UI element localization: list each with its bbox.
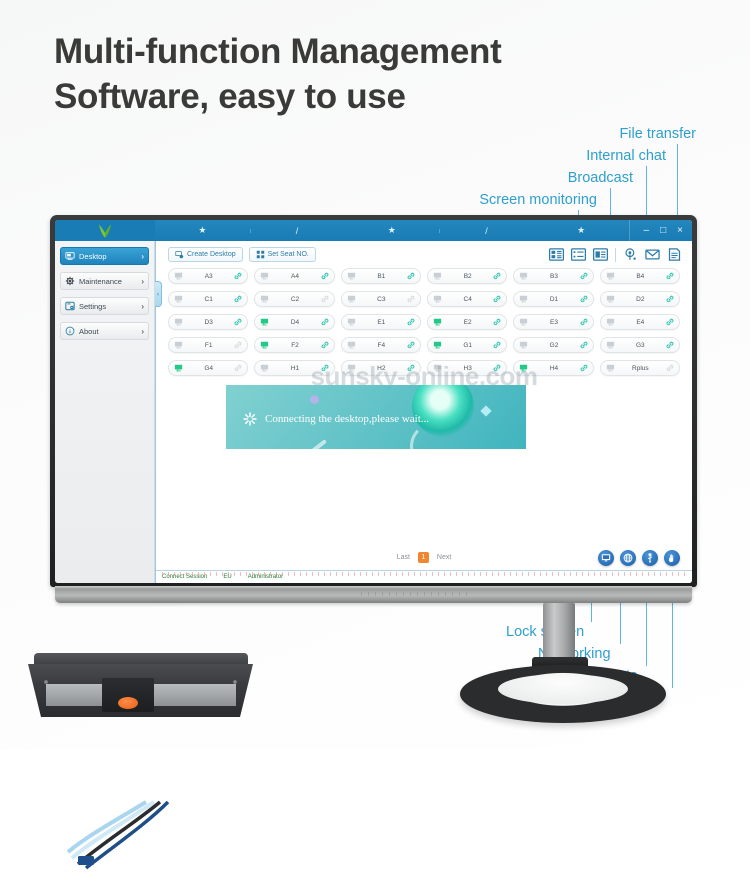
seat-name: G3	[619, 342, 662, 349]
link-connected-icon[interactable]	[580, 341, 588, 349]
seat-item[interactable]: G1	[427, 337, 507, 353]
seat-name: D2	[619, 296, 662, 303]
seat-item[interactable]: G4	[168, 360, 248, 376]
link-connected-icon[interactable]	[407, 364, 415, 372]
seat-monitor-icon	[174, 341, 183, 349]
link-connected-icon[interactable]	[234, 318, 242, 326]
seat-name: F4	[360, 342, 403, 349]
seat-name: A3	[187, 273, 230, 280]
view-tiles-icon[interactable]	[549, 248, 564, 261]
close-button[interactable]: ×	[677, 226, 683, 236]
seat-item[interactable]: H3	[427, 360, 507, 376]
seat-monitor-icon	[260, 295, 269, 303]
monitor-base-inner	[498, 674, 628, 704]
sidebar-item-maintenance[interactable]: Maintenance ›	[60, 272, 149, 290]
thin-client-device	[28, 653, 253, 717]
cable-bundle	[50, 800, 290, 890]
power-led-indicator	[118, 697, 138, 709]
titlebar-segment-5: ★	[534, 225, 629, 236]
hand-up-icon	[667, 553, 677, 563]
connecting-dialog: Connecting the desktop,please wait...	[226, 385, 526, 449]
seat-monitor-icon	[606, 295, 615, 303]
seat-item[interactable]: B1	[341, 268, 421, 284]
seat-item[interactable]: Rplus	[600, 360, 680, 376]
seat-name: B1	[360, 273, 403, 280]
seat-name: Rplus	[619, 365, 662, 372]
panel-collapse-handle[interactable]: ‹	[155, 281, 162, 307]
device-body	[28, 664, 253, 717]
seat-item[interactable]: H2	[341, 360, 421, 376]
sidebar-item-settings[interactable]: Settings ›	[60, 297, 149, 315]
create-desktop-label: Create Desktop	[187, 251, 236, 258]
seat-item[interactable]: B2	[427, 268, 507, 284]
seat-monitor-online-icon	[174, 364, 183, 372]
seat-monitor-online-icon	[260, 341, 269, 349]
link-connected-icon[interactable]	[493, 364, 501, 372]
dialog-diamond	[480, 405, 491, 416]
seat-monitor-icon	[174, 272, 183, 280]
link-connected-icon[interactable]	[321, 318, 329, 326]
screen: ★ / ★ / ★ – □ ×	[55, 220, 692, 583]
toolbar-icon-group	[549, 248, 682, 262]
link-connected-icon[interactable]	[580, 272, 588, 280]
seat-name: H1	[273, 365, 316, 372]
seat-item[interactable]: G2	[513, 337, 593, 353]
seat-item[interactable]: A4	[254, 268, 334, 284]
seat-monitor-icon	[433, 295, 442, 303]
monitor: ★ / ★ / ★ – □ ×	[50, 215, 697, 595]
link-disconnected-icon[interactable]	[234, 341, 242, 349]
titlebar-segment-1: ★	[155, 225, 250, 236]
seat-item[interactable]: D1	[513, 291, 593, 307]
monitor-bezel: ★ / ★ / ★ – □ ×	[50, 215, 697, 587]
seat-monitor-icon	[606, 364, 615, 372]
link-connected-icon[interactable]	[666, 318, 674, 326]
create-desktop-button[interactable]: Create Desktop	[168, 247, 243, 262]
set-seat-no-button[interactable]: Set Seat NO.	[249, 247, 316, 262]
seat-monitor-icon	[347, 318, 356, 326]
chevron-right-icon: ›	[141, 302, 144, 311]
lock-screen-button[interactable]	[598, 550, 614, 566]
grid-icon	[256, 250, 265, 259]
link-connected-icon[interactable]	[666, 295, 674, 303]
status-bar: Connect Session EU Administrator	[156, 570, 692, 583]
seat-grid: A3A4B1B2B3B4C1C2C3C4D1D2D3D4E1E2E3E4F1F2…	[156, 266, 692, 376]
monitor-neck	[543, 603, 575, 665]
add-desktop-icon	[175, 250, 184, 259]
view-list-icon[interactable]	[571, 248, 586, 261]
page-root: Multi-function Management Software, easy…	[0, 0, 750, 750]
seat-name: F1	[187, 342, 230, 349]
seat-item[interactable]: C1	[168, 291, 248, 307]
annotation-screen-monitoring: Screen monitoring	[479, 192, 597, 208]
seat-name: E1	[360, 319, 403, 326]
seat-name: B4	[619, 273, 662, 280]
dialog-spark	[310, 395, 319, 404]
link-connected-icon[interactable]	[321, 364, 329, 372]
seat-monitor-icon	[174, 318, 183, 326]
seat-item[interactable]: C3	[341, 291, 421, 307]
link-connected-icon[interactable]	[580, 364, 588, 372]
gear-icon	[65, 276, 75, 286]
link-disconnected-icon[interactable]	[666, 364, 674, 372]
seat-name: A4	[273, 273, 316, 280]
content-panel: ‹ Create Desktop	[155, 241, 692, 583]
link-connected-icon[interactable]	[407, 272, 415, 280]
set-seat-no-label: Set Seat NO.	[268, 251, 309, 258]
link-connected-icon[interactable]	[493, 272, 501, 280]
seat-monitor-online-icon	[433, 341, 442, 349]
link-disconnected-icon[interactable]	[321, 295, 329, 303]
seat-name: G2	[532, 342, 575, 349]
seat-item[interactable]: E3	[513, 314, 593, 330]
link-connected-icon[interactable]	[666, 272, 674, 280]
sidebar-item-label: Maintenance	[79, 277, 137, 286]
device-screw	[44, 680, 48, 684]
chevron-right-icon: ›	[141, 277, 144, 286]
seat-item[interactable]: E2	[427, 314, 507, 330]
page-title: Multi-function Management Software, easy…	[54, 30, 674, 120]
chevron-right-icon: ›	[141, 327, 144, 336]
link-connected-icon[interactable]	[493, 341, 501, 349]
file-transfer-icon[interactable]	[667, 248, 682, 261]
status-tick-marks	[162, 572, 686, 576]
page-title-line2: Software, easy to use	[54, 75, 674, 120]
spinner-icon	[242, 411, 258, 427]
usb-mounts-icon	[645, 553, 655, 563]
seat-name: E3	[532, 319, 575, 326]
seat-name: G4	[187, 365, 230, 372]
seat-monitor-online-icon	[260, 318, 269, 326]
sidebar-item-label: Desktop	[79, 252, 137, 261]
info-icon	[65, 326, 75, 336]
seat-monitor-icon	[433, 272, 442, 280]
app-logo	[55, 220, 155, 241]
link-connected-icon[interactable]	[493, 318, 501, 326]
window-controls: – □ ×	[629, 220, 692, 241]
sidebar-item-label: About	[79, 327, 137, 336]
titlebar-segment-2: /	[250, 226, 345, 236]
link-connected-icon[interactable]	[666, 341, 674, 349]
seat-item[interactable]: E4	[600, 314, 680, 330]
sidebar-item-label: Settings	[79, 302, 137, 311]
titlebar-segment-3: ★	[344, 225, 439, 236]
dialog-message-row: Connecting the desktop,please wait...	[242, 411, 429, 427]
seat-item[interactable]: F4	[341, 337, 421, 353]
seat-item[interactable]: D2	[600, 291, 680, 307]
settings-icon	[65, 301, 75, 311]
seat-monitor-icon	[260, 272, 269, 280]
seat-name: D4	[273, 319, 316, 326]
annotation-file-transfer: File transfer	[619, 126, 696, 142]
seat-monitor-icon	[519, 318, 528, 326]
seat-monitor-icon	[347, 364, 356, 372]
seat-monitor-icon	[519, 272, 528, 280]
link-connected-icon[interactable]	[493, 295, 501, 303]
seat-monitor-icon	[606, 318, 615, 326]
link-connected-icon[interactable]	[234, 295, 242, 303]
seat-item[interactable]: C2	[254, 291, 334, 307]
seat-name: C2	[273, 296, 316, 303]
prev-page-button[interactable]: Last	[397, 554, 410, 561]
titlebar-segment-4: /	[439, 226, 534, 236]
maximize-button[interactable]: □	[660, 226, 666, 236]
toolbar-divider	[615, 248, 616, 262]
link-connected-icon[interactable]	[580, 295, 588, 303]
seat-monitor-icon	[519, 341, 528, 349]
dialog-message: Connecting the desktop,please wait...	[265, 413, 429, 425]
link-disconnected-icon[interactable]	[407, 295, 415, 303]
seat-monitor-online-icon	[519, 364, 528, 372]
link-connected-icon[interactable]	[407, 341, 415, 349]
seat-monitor-icon	[433, 364, 442, 372]
link-disconnected-icon[interactable]	[234, 364, 242, 372]
seat-name: D1	[532, 296, 575, 303]
app-body: Desktop › Maintenance	[55, 241, 692, 583]
sidebar-item-about[interactable]: About ›	[60, 322, 149, 340]
seat-item[interactable]: H1	[254, 360, 334, 376]
sidebar-item-desktop[interactable]: Desktop ›	[60, 247, 149, 265]
seat-name: C4	[446, 296, 489, 303]
seat-item[interactable]: B4	[600, 268, 680, 284]
broadcast-icon[interactable]	[623, 248, 638, 261]
link-connected-icon[interactable]	[321, 272, 329, 280]
usb-mounts-button[interactable]	[642, 550, 658, 566]
monitor-base	[460, 665, 666, 723]
content-footer: Last 1 Next	[156, 549, 692, 583]
seat-item[interactable]: F1	[168, 337, 248, 353]
seat-item[interactable]: D4	[254, 314, 334, 330]
page-title-line1: Multi-function Management	[54, 30, 674, 75]
lock-screen-icon	[601, 553, 611, 563]
seat-monitor-icon	[606, 341, 615, 349]
footer-action-buttons	[598, 550, 680, 566]
device-screw	[233, 680, 237, 684]
seat-name: C1	[187, 296, 230, 303]
view-detail-icon[interactable]	[593, 248, 608, 261]
seat-name: E4	[619, 319, 662, 326]
seat-item[interactable]: C4	[427, 291, 507, 307]
next-page-button[interactable]: Next	[437, 554, 451, 561]
sidebar: Desktop › Maintenance	[55, 241, 155, 583]
seat-item[interactable]: A3	[168, 268, 248, 284]
seat-name: H4	[532, 365, 575, 372]
seat-item[interactable]: G3	[600, 337, 680, 353]
monitor-icon	[65, 251, 75, 261]
seat-monitor-icon	[260, 364, 269, 372]
seat-item[interactable]: D3	[168, 314, 248, 330]
seat-monitor-icon	[347, 295, 356, 303]
seat-monitor-icon	[347, 341, 356, 349]
seat-name: B3	[532, 273, 575, 280]
seat-monitor-online-icon	[433, 318, 442, 326]
dialog-streak	[293, 439, 327, 449]
leaf-logo-icon	[97, 223, 113, 239]
internal-chat-icon[interactable]	[645, 248, 660, 261]
content-toolbar: Create Desktop Set Seat NO.	[156, 241, 692, 266]
seat-item[interactable]: H4	[513, 360, 593, 376]
networking-button[interactable]	[620, 550, 636, 566]
seat-item[interactable]: F2	[254, 337, 334, 353]
chevron-right-icon: ›	[141, 252, 144, 261]
seat-name: H3	[446, 365, 489, 372]
link-connected-icon[interactable]	[407, 318, 415, 326]
minimize-button[interactable]: –	[644, 226, 650, 236]
annotation-internal-chat: Internal chat	[586, 148, 666, 164]
seat-item[interactable]: E1	[341, 314, 421, 330]
link-connected-icon[interactable]	[321, 341, 329, 349]
link-connected-icon[interactable]	[234, 272, 242, 280]
seat-name: E2	[446, 319, 489, 326]
networking-icon	[623, 553, 633, 563]
seat-name: B2	[446, 273, 489, 280]
seat-item[interactable]: B3	[513, 268, 593, 284]
hand-up-button[interactable]	[664, 550, 680, 566]
seat-name: D3	[187, 319, 230, 326]
link-connected-icon[interactable]	[580, 318, 588, 326]
seat-monitor-icon	[174, 295, 183, 303]
seat-name: H2	[360, 365, 403, 372]
seat-name: C3	[360, 296, 403, 303]
seat-monitor-icon	[606, 272, 615, 280]
monitor-chinrest	[55, 586, 692, 603]
annotation-broadcast: Broadcast	[568, 170, 633, 186]
current-page[interactable]: 1	[418, 552, 429, 563]
seat-monitor-icon	[347, 272, 356, 280]
seat-name: F2	[273, 342, 316, 349]
app-titlebar: ★ / ★ / ★ – □ ×	[55, 220, 692, 241]
chinrest-texture	[361, 592, 471, 596]
seat-name: G1	[446, 342, 489, 349]
seat-monitor-icon	[519, 295, 528, 303]
